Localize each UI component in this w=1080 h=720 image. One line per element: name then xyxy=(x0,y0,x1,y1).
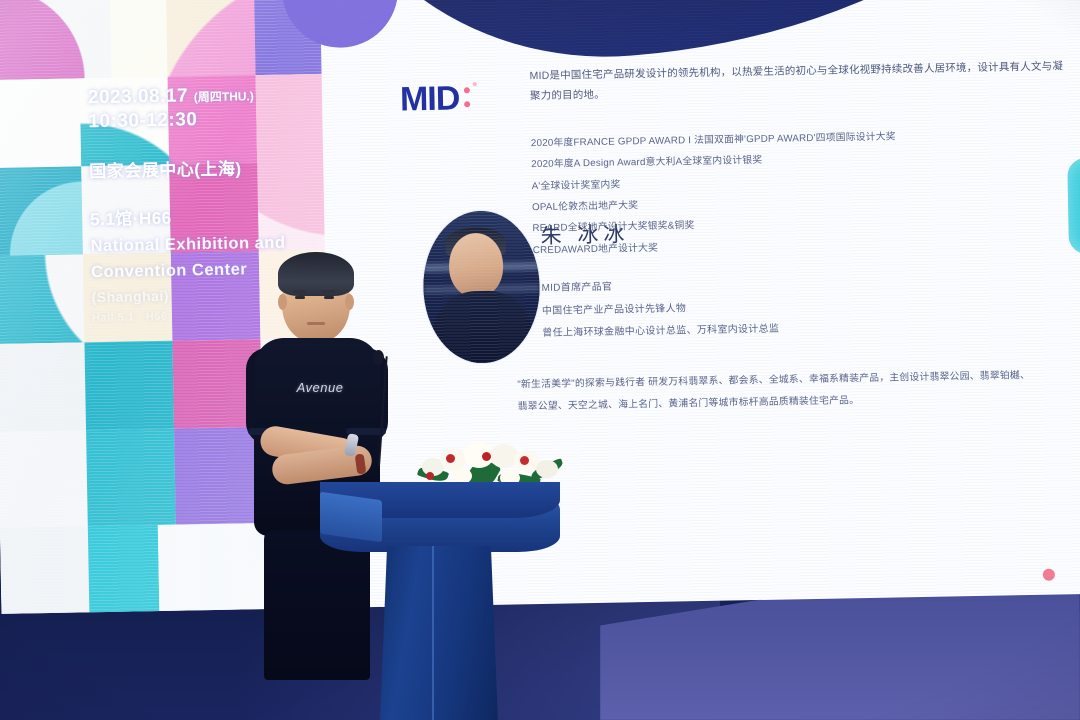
presenter-hair xyxy=(278,252,354,296)
podium-column xyxy=(380,546,498,720)
microphone-icon xyxy=(373,350,384,365)
company-intro-paragraph: MID是中国住宅产品研发设计的领先机构，以热爱生活的初心与全球化视野持续改善人居… xyxy=(529,56,1070,107)
mid-dots-icon xyxy=(462,81,481,115)
poster-venue-cn: 国家会展中心(上海) xyxy=(89,156,349,184)
speaker-name: 朱 冰冰 xyxy=(540,213,940,250)
poster-time: 10:30-12:30 xyxy=(88,106,348,135)
poster-day-of-week: (周四THU.) xyxy=(194,89,254,104)
speaking-podium xyxy=(320,462,560,720)
conference-stage-photo: 2023.08.17 (周四THU.) 10:30-12:30 国家会展中心(上… xyxy=(0,0,1080,720)
poster-date: 2023.08.17 xyxy=(88,85,188,108)
speaker-bio: "新生活美学"的探索与践行者 研发万科翡翠系、都会系、全城系、幸福系精装产品，主… xyxy=(517,364,1080,419)
mid-logo-wordmark: MID xyxy=(400,81,460,116)
speaker-info: 朱 冰冰 MID首席产品官 中国住宅产业产品设计先锋人物 曾任上海环球金融中心设… xyxy=(540,213,942,346)
podium-shelf xyxy=(320,492,382,543)
pink-dot-decoration xyxy=(1043,569,1055,581)
poster-hall-cn: 5.1馆·H66 xyxy=(90,205,350,233)
speaker-portrait-oval xyxy=(422,210,541,364)
mid-logo: MID xyxy=(400,81,481,116)
speaker-titles: MID首席产品官 中国住宅产业产品设计先锋人物 曾任上海环球金融中心设计总监、万… xyxy=(541,271,942,346)
presenter-shirt-text: Avenue xyxy=(280,380,360,395)
